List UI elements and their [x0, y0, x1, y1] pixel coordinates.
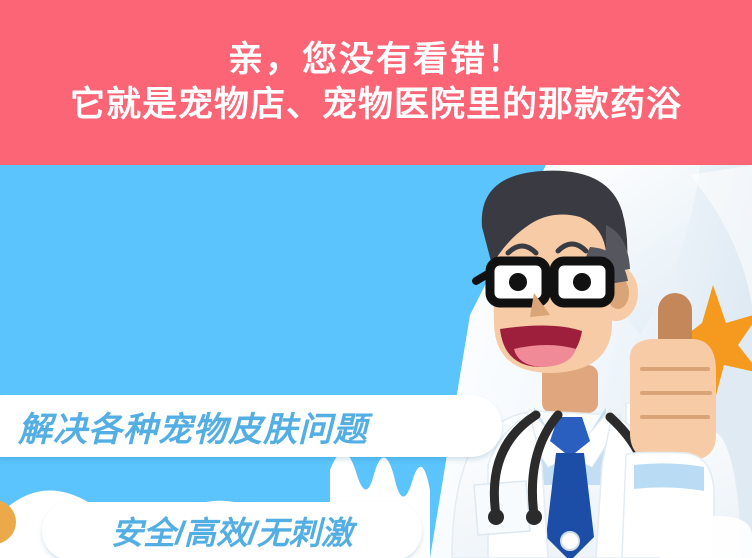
- cartoon-doctor-illustration: [430, 165, 752, 558]
- header-band: 亲，您没有看错！ 它就是宠物店、宠物医院里的那款药浴: [0, 0, 752, 165]
- header-headline-primary: 亲，您没有看错！: [228, 42, 524, 79]
- body-band: 解决各种宠物皮肤问题 安全/高效/无刺激 猫犬通用 多种问题 一瓶解决: [0, 165, 752, 558]
- feature-pill-label: 解决各种宠物皮肤问题: [18, 402, 368, 451]
- feature-pill-label: 安全/高效/无刺激: [111, 508, 353, 554]
- white-curtain-backdrop: [0, 165, 752, 558]
- stethoscope-icon: [494, 415, 648, 515]
- necktie: [546, 417, 594, 558]
- thumbs-up-hand: [622, 293, 716, 558]
- pet-medicated-bath-ad-banner: 亲，您没有看错！ 它就是宠物店、宠物医院里的那款药浴: [0, 0, 752, 558]
- starburst-icon: [676, 285, 752, 403]
- header-headline-secondary: 它就是宠物店、宠物医院里的那款药浴: [70, 87, 682, 124]
- feature-pill-skin-problems[interactable]: 解决各种宠物皮肤问题: [0, 395, 502, 457]
- glasses-icon: [476, 261, 610, 303]
- feature-pill-safe-effective[interactable]: 安全/高效/无刺激: [42, 502, 422, 558]
